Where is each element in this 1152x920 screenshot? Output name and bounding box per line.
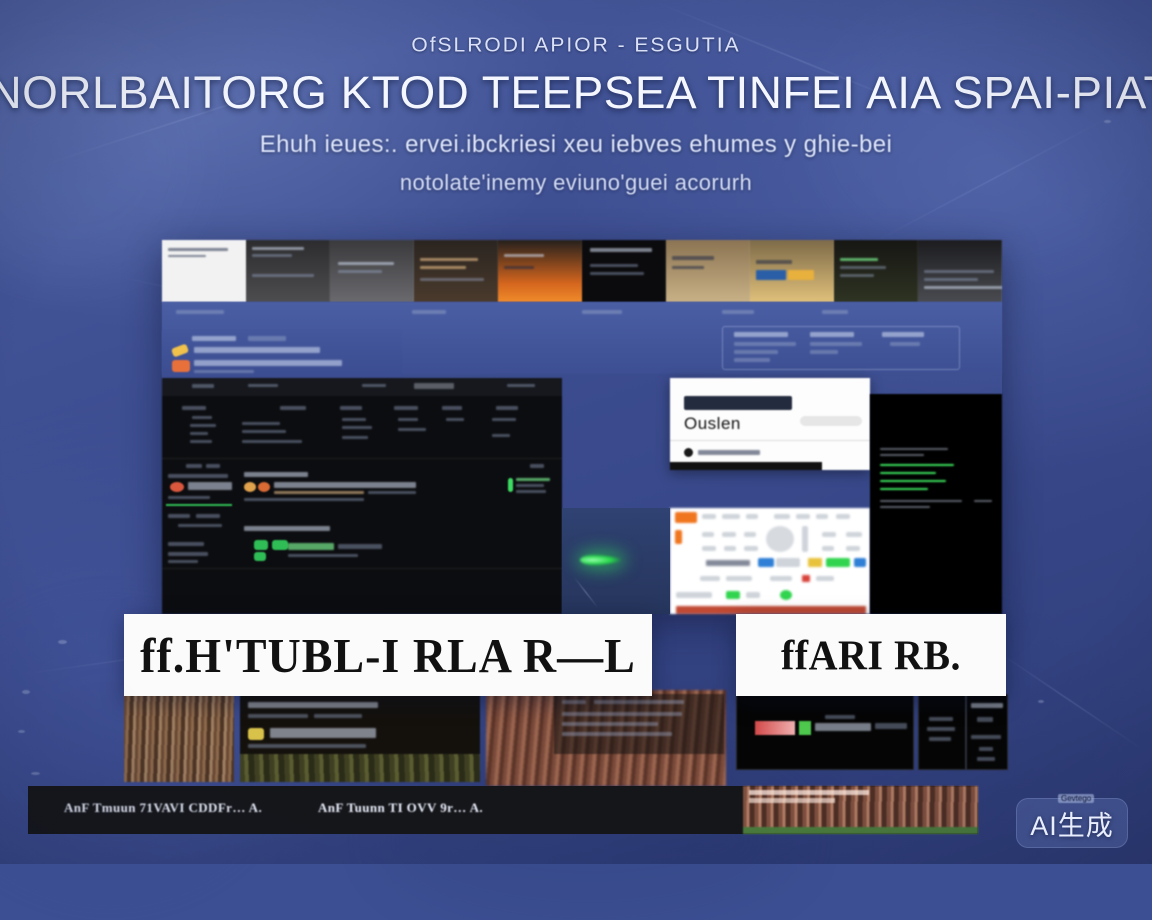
modal-progress-bar[interactable] <box>670 462 822 470</box>
filmstrip-thumb[interactable] <box>246 240 330 302</box>
filmstrip-thumb[interactable] <box>330 240 414 302</box>
header-subtitle-line-2: notolate'inemy eviuno'guei acorurh <box>0 170 1152 196</box>
filmstrip-thumb[interactable] <box>498 240 582 302</box>
headline-banner-left-text: ff.Η'TUBL-I RLA R—L <box>140 627 636 683</box>
caption-block-right <box>554 694 724 754</box>
headline-banner-left: ff.Η'TUBL-I RLA R—L <box>124 614 652 696</box>
headline-banner-right: ffARI RB. <box>736 614 1006 696</box>
poster-header: OfSLRODI APIOR - ESGUTIA NORLBAITORG KTO… <box>0 34 1152 196</box>
modal-radio[interactable] <box>684 448 693 457</box>
filmstrip-thumb[interactable] <box>750 240 834 302</box>
photo-thumbnail-brown[interactable] <box>124 694 234 782</box>
header-kicker: OfSLRODI APIOR - ESGUTIA <box>0 35 1152 58</box>
filmstrip-thumb[interactable] <box>918 240 1002 302</box>
green-glow-panel <box>562 508 670 614</box>
black-card-narrow[interactable] <box>918 694 966 770</box>
white-app-panel[interactable] <box>670 508 870 614</box>
filmstrip-thumb[interactable] <box>834 240 918 302</box>
thumbnail-filmstrip <box>162 240 1002 302</box>
screenshot-collage: Ouslen <box>162 240 1002 614</box>
bottom-photo-thumbnail[interactable] <box>743 786 978 834</box>
modal-chip <box>684 396 792 410</box>
glow-highlight <box>580 554 622 566</box>
dark-dashboard-panel <box>162 378 562 614</box>
lower-collage-row <box>124 690 1006 786</box>
watermark-tag: Gevtego <box>1058 794 1094 803</box>
bottom-label-2: AnF Tuunn TI OVV 9r… A. <box>318 800 483 816</box>
black-terminal-panel <box>870 394 1002 614</box>
filmstrip-thumb[interactable] <box>666 240 750 302</box>
headline-banner-right-text: ffARI RB. <box>781 630 961 679</box>
filmstrip-thumb[interactable] <box>582 240 666 302</box>
black-card-wide[interactable] <box>736 694 914 770</box>
left-icon-card <box>162 330 402 378</box>
header-subtitle-line-1: Ehuh ieues:. ervei.ibckriesi xeu iebves … <box>0 131 1152 159</box>
black-card-small[interactable] <box>966 694 1008 770</box>
bottom-caption-strip: AnF Tmuun 71VAVI CDDFr… A. AnF Tuunn TI … <box>28 786 978 834</box>
white-modal-card[interactable]: Ouslen <box>670 378 870 470</box>
filmstrip-thumb[interactable] <box>414 240 498 302</box>
caption-block <box>240 694 480 782</box>
modal-heading: Ouslen <box>684 414 741 434</box>
modal-slider[interactable] <box>800 416 862 426</box>
page-title: NORLBAITORG KTOD TEEPSEA TINFEI AIA SPAI… <box>0 70 1152 115</box>
filmstrip-thumb[interactable] <box>162 240 246 302</box>
watermark-text: AI生成 <box>1030 804 1114 843</box>
bottom-label-1: AnF Tmuun 71VAVI CDDFr… A. <box>64 800 262 816</box>
ai-generated-watermark: Gevtego AI生成 <box>1016 798 1128 848</box>
